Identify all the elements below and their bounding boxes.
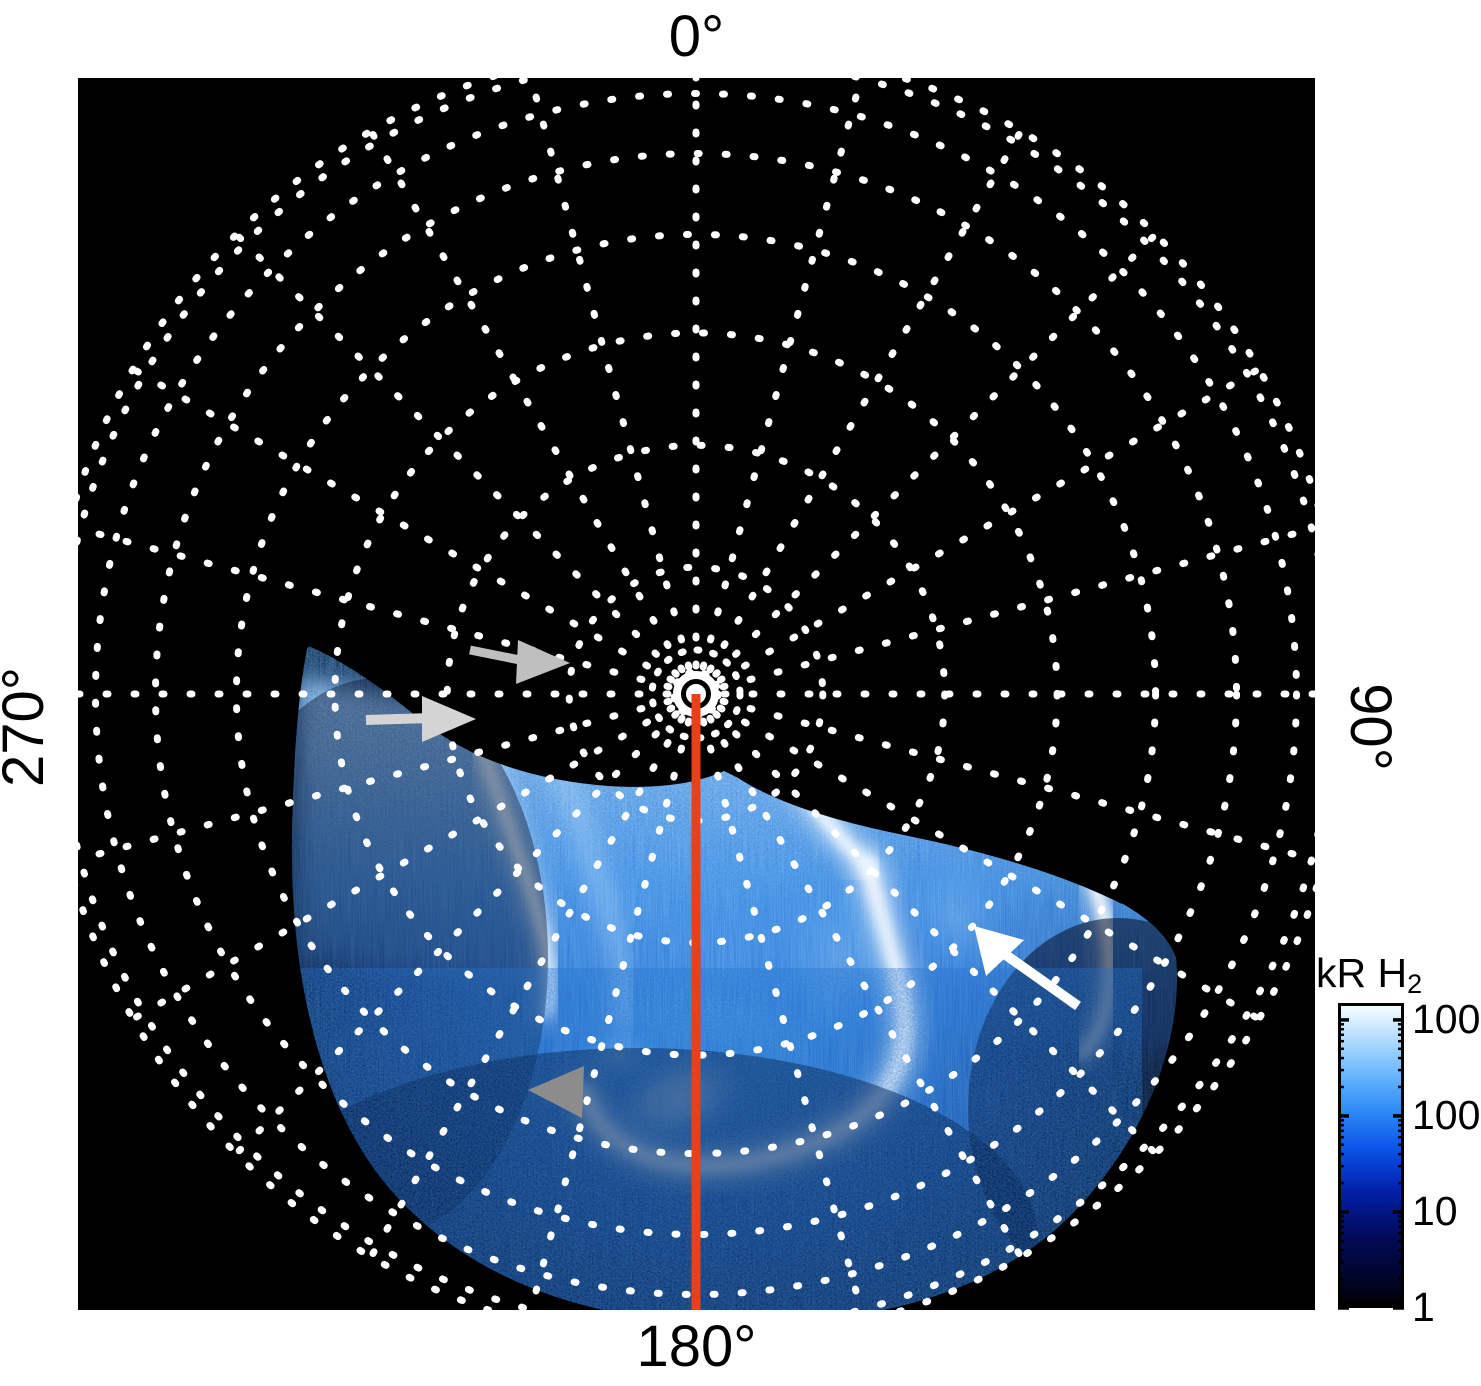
- figure-root: 0° 180° 270° 90°: [0, 0, 1481, 1386]
- axis-label-top: 0°: [0, 8, 1393, 66]
- colorbar-label-1000: 1000: [1412, 999, 1481, 1040]
- colorbar-ticks: [1338, 1003, 1404, 1308]
- colorbar-title-text: kR H: [1316, 950, 1407, 996]
- colorbar-title: kR H2: [1316, 950, 1422, 1000]
- axis-label-bottom: 180°: [0, 1318, 1393, 1376]
- colorbar-label-10: 10: [1412, 1191, 1458, 1232]
- colorbar-title-subscript: 2: [1407, 969, 1422, 999]
- axis-label-right: 90°: [1341, 657, 1399, 797]
- polar-plot-svg: [78, 78, 1315, 1310]
- colorbar-label-1: 1: [1412, 1287, 1435, 1328]
- polar-plot-area: [78, 78, 1315, 1310]
- colorbar-label-100: 100: [1412, 1095, 1480, 1136]
- axis-label-left: 270°: [0, 657, 53, 797]
- colorbar: [1338, 1003, 1404, 1308]
